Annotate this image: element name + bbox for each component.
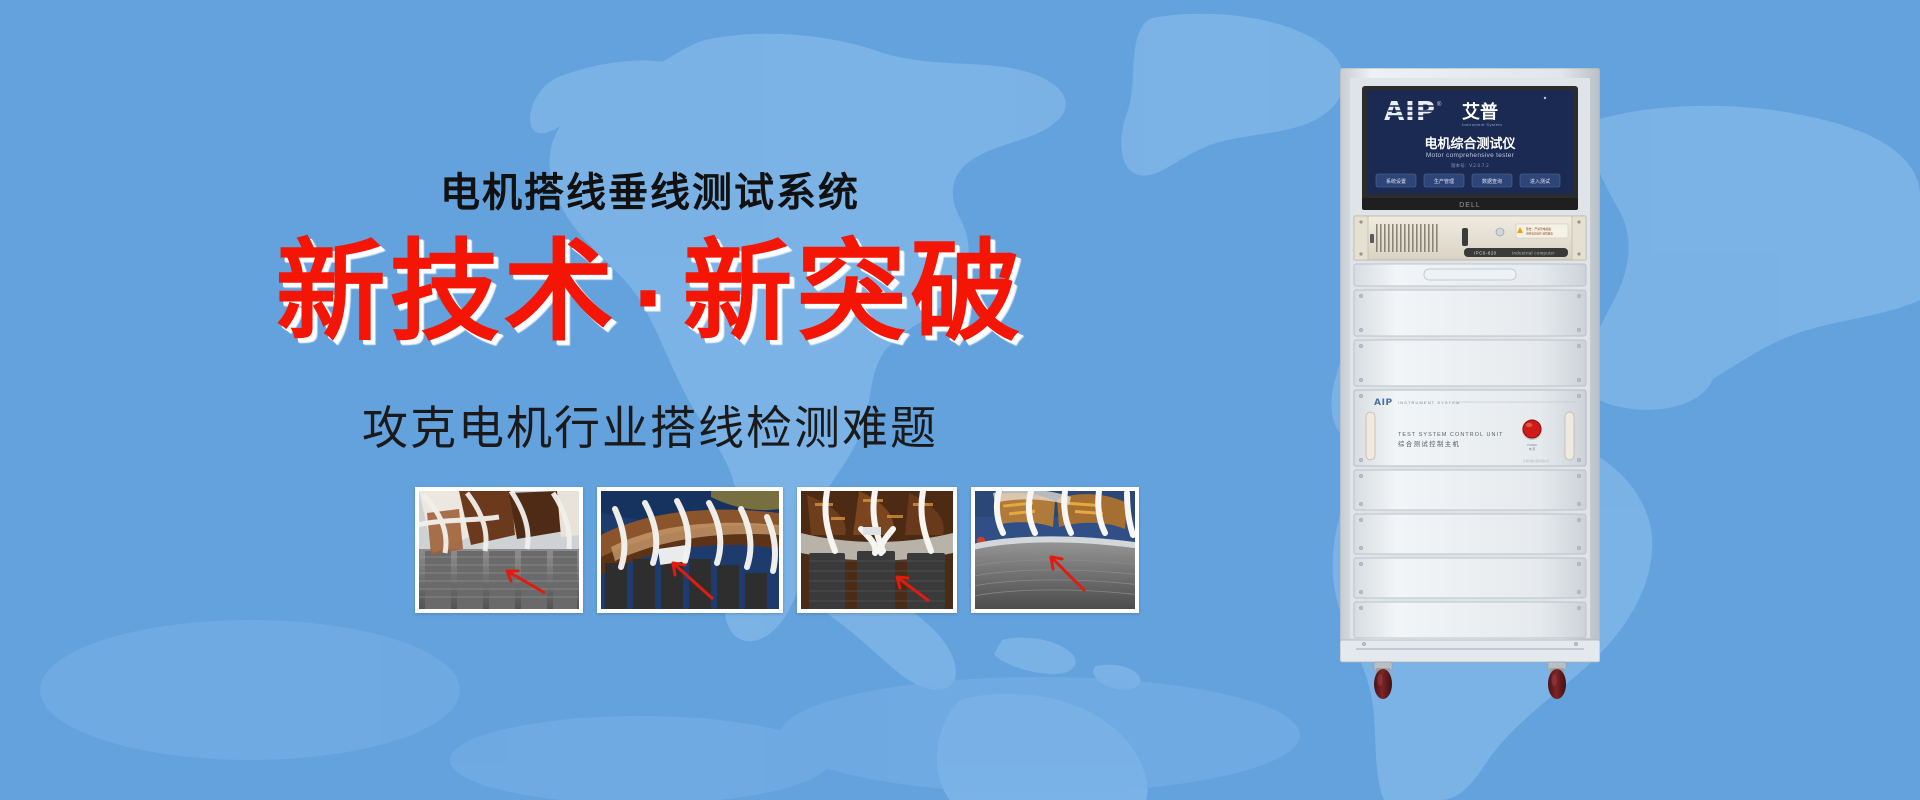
ipc-model-en: Industrial computer	[1512, 251, 1555, 256]
stator-winding-closeup-4-image	[975, 491, 1135, 609]
test-system-control-unit: AIP INSTRUMENT SYSTEM TEST SYSTEM CONTRO…	[1354, 390, 1586, 466]
blank-panel-group-lower	[1354, 470, 1586, 638]
stator-winding-closeup-3-image	[801, 491, 953, 609]
svg-text:请断电后操作 谨防触电: 请断电后操作 谨防触电	[1526, 232, 1553, 236]
headline-right-text: 新突破	[682, 228, 1024, 356]
blank-drawer-panel	[1354, 264, 1586, 286]
control-unit-title-cn: 综合测试控制主机	[1398, 439, 1460, 448]
stator-winding-closeup-2-image	[601, 491, 779, 609]
monitor-brand-label: DELL	[1459, 202, 1481, 209]
headline-left-text: 新技术	[276, 228, 618, 356]
power-label-cn: 电 源	[1529, 447, 1536, 451]
control-unit-title-en: TEST SYSTEM CONTROL UNIT	[1398, 432, 1503, 438]
control-unit-brand: AIP	[1374, 398, 1393, 408]
control-unit-brand-sub: INSTRUMENT SYSTEM	[1398, 400, 1460, 405]
ipc-model-label: IPC6-820	[1474, 251, 1497, 256]
headline-separator-dot: ·	[618, 249, 683, 349]
motor-comprehensive-tester-cabinet[interactable]: DELL AIP ® 艾普 Instrument System 电机综合测试仪 …	[1340, 68, 1600, 708]
power-button	[1522, 420, 1542, 440]
cabinet-base	[1340, 640, 1600, 662]
thumbnail-item[interactable]	[971, 487, 1139, 613]
caster-left	[1374, 662, 1392, 699]
cabinet-footer-note: 艾普智能仪器有限公司	[1523, 459, 1549, 463]
thumbnail-item[interactable]	[597, 487, 783, 613]
industrial-pc-unit: 警告：严禁带电插拔 请断电后操作 谨防触电 IPC6-820 Industria…	[1354, 216, 1586, 260]
svg-text:警告：严禁带电插拔: 警告：严禁带电插拔	[1526, 227, 1551, 231]
banner-tagline: 攻克电机行业搭线检测难题	[0, 392, 1300, 458]
caster-right	[1548, 662, 1566, 699]
thumbnail-item[interactable]	[797, 487, 957, 613]
banner-subtitle: 电机搭线垂线测试系统	[0, 160, 1300, 218]
banner-headline: 新技术·新突破	[0, 228, 1300, 358]
thumbnail-item[interactable]	[415, 487, 583, 613]
rack-handle-right	[1565, 412, 1574, 460]
rack-handle-left	[1366, 412, 1375, 460]
stator-winding-closeup-1-image	[419, 491, 579, 609]
thumbnail-strip	[415, 487, 1139, 613]
headline-text-block: 电机搭线垂线测试系统 新技术·新突破 攻克电机行业搭线检测难题	[0, 0, 1300, 800]
promo-banner: 电机搭线垂线测试系统 新技术·新突破 攻克电机行业搭线检测难题	[0, 0, 1920, 800]
